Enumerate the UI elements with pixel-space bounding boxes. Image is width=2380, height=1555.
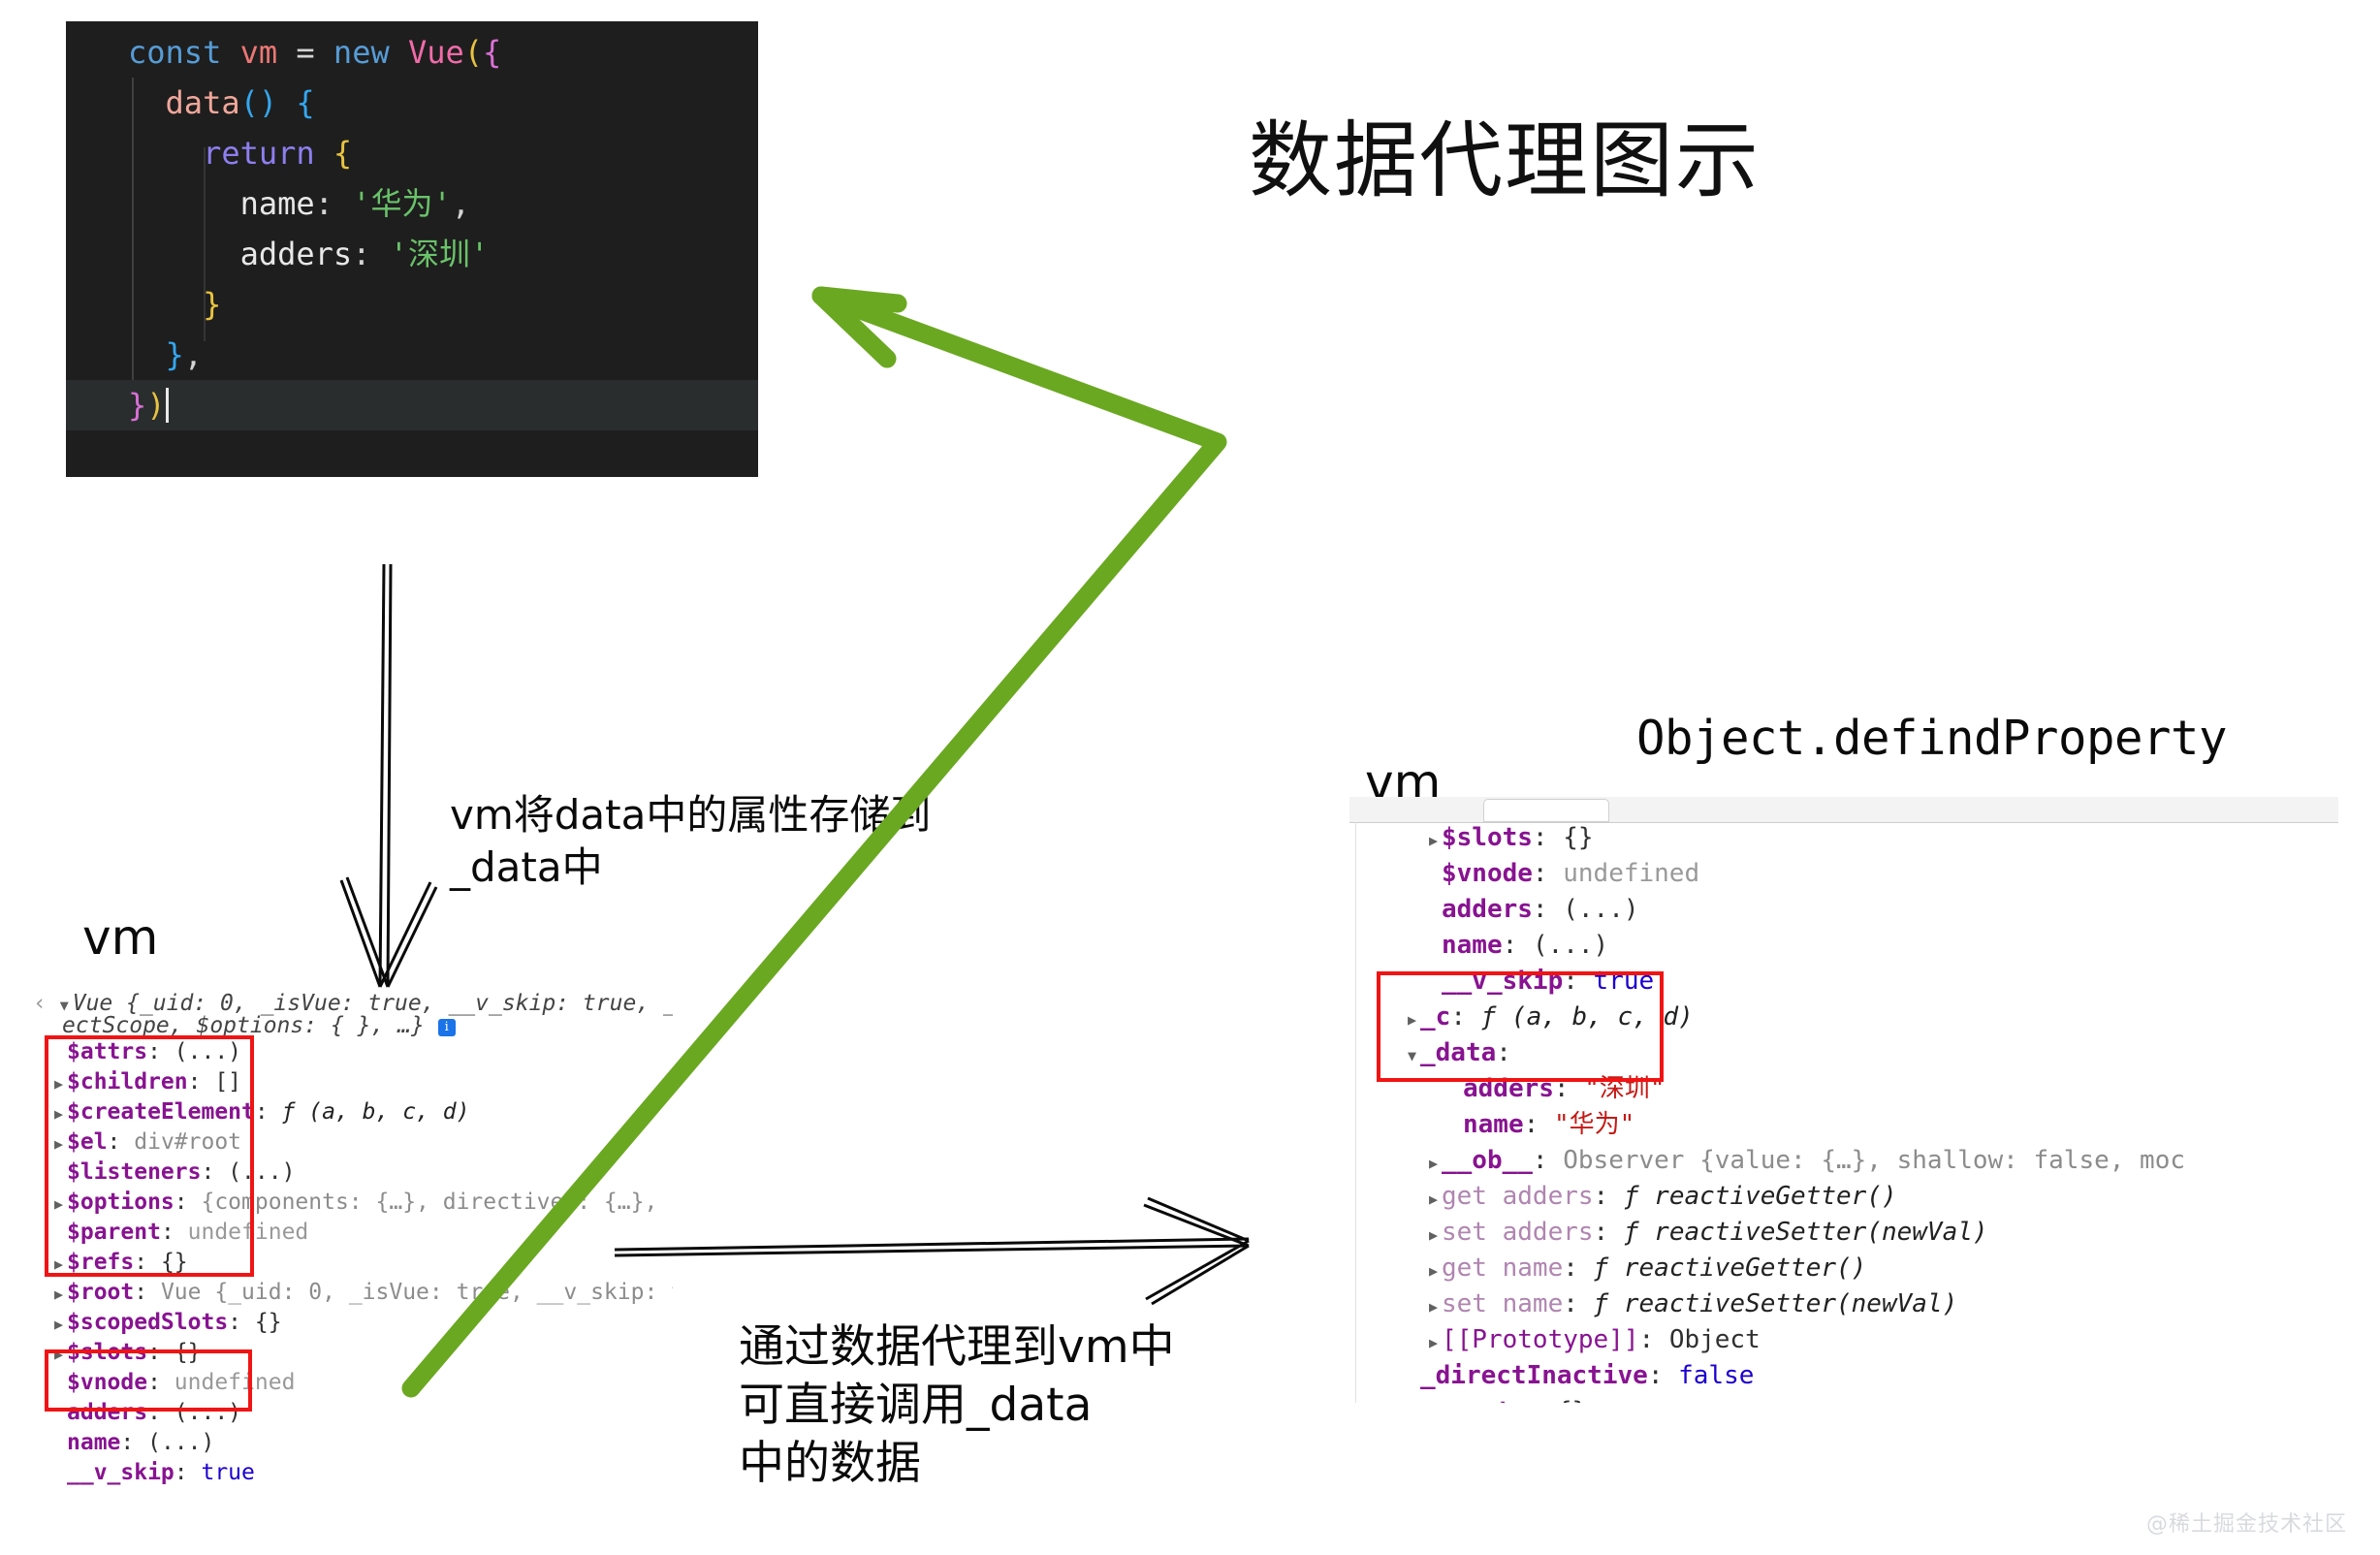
devtools-row-value: false bbox=[1678, 1361, 1754, 1390]
devtools-row-separator: : bbox=[1527, 1397, 1557, 1403]
row-spacer: ▶ bbox=[54, 1430, 67, 1460]
devtools-row-value: Observer {value: {…}, shallow: false, mo… bbox=[1563, 1146, 2185, 1175]
devtools-row[interactable]: ▶$children: [] bbox=[54, 1067, 673, 1097]
down-arrow-icon bbox=[341, 564, 436, 987]
annotation-data-proxy: 通过数据代理到vm中 可直接调用_data 中的数据 bbox=[739, 1318, 1340, 1493]
devtools-row[interactable]: ▶$scopedSlots: {} bbox=[54, 1308, 673, 1338]
devtools-row-key: __v_skip bbox=[67, 1460, 175, 1485]
devtools-row-key: name bbox=[1463, 1110, 1524, 1139]
devtools-row[interactable]: ▶$refs: {} bbox=[54, 1248, 673, 1278]
devtools-row-key: $root bbox=[67, 1280, 134, 1305]
devtools-tab-chip[interactable] bbox=[1483, 799, 1609, 822]
devtools-row-separator: : bbox=[161, 1220, 188, 1245]
devtools-row[interactable]: ▶$vnode: undefined bbox=[54, 1368, 673, 1398]
devtools-row[interactable]: ▶$listeners: (...) bbox=[54, 1158, 673, 1188]
row-spacer: ▶ bbox=[54, 1039, 67, 1069]
devtools-row[interactable]: ▶$options: {components: {…}, directives:… bbox=[54, 1188, 673, 1218]
row-spacer: ▶ bbox=[1450, 1074, 1463, 1110]
devtools-row-value: "深圳" bbox=[1584, 1074, 1665, 1103]
devtools-row[interactable]: ▶name: (...) bbox=[54, 1428, 673, 1458]
devtools-row[interactable]: ▶_c: ƒ (a, b, c, d) bbox=[1408, 1000, 2185, 1035]
collapsed-triangle-icon[interactable]: ▶ bbox=[54, 1250, 67, 1280]
devtools-row[interactable]: ▶$attrs: (...) bbox=[54, 1037, 673, 1067]
collapsed-triangle-icon[interactable]: ▶ bbox=[1429, 1146, 1442, 1182]
devtools-row[interactable]: ▶$slots: {} bbox=[54, 1338, 673, 1368]
devtools-row-value: ƒ (a, b, c, d) bbox=[282, 1099, 470, 1125]
devtools-row-value: {} bbox=[1563, 823, 1593, 852]
devtools-row-separator: : bbox=[1594, 1218, 1624, 1247]
collapsed-triangle-icon[interactable]: ▶ bbox=[1429, 1218, 1442, 1254]
code-line-2: data() { bbox=[66, 78, 758, 128]
devtools-row-separator: : bbox=[147, 1400, 175, 1425]
devtools-row-separator: : bbox=[255, 1099, 282, 1125]
collapsed-triangle-icon[interactable]: ▶ bbox=[54, 1069, 67, 1099]
devtools-row-separator: : bbox=[108, 1129, 135, 1155]
devtools-row-key: $vnode bbox=[1442, 859, 1533, 888]
devtools-row[interactable]: ▶_directInactive: false bbox=[1408, 1358, 2185, 1394]
devtools-row-key: _c bbox=[1420, 1002, 1450, 1031]
devtools-row-separator: : bbox=[1496, 1038, 1511, 1067]
devtools-row-separator: : bbox=[1563, 967, 1593, 996]
devtools-row[interactable]: ▶__ob__: Observer {value: {…}, shallow: … bbox=[1408, 1143, 2185, 1179]
devtools-row-separator: : bbox=[134, 1280, 161, 1305]
row-spacer: ▶ bbox=[1429, 895, 1442, 931]
devtools-row-separator: : bbox=[1563, 1289, 1593, 1318]
expanded-triangle-icon[interactable]: ▼ bbox=[1408, 1038, 1420, 1074]
devtools-row-key: set adders bbox=[1442, 1218, 1594, 1247]
code-line-8: }) bbox=[66, 380, 758, 430]
collapsed-triangle-icon[interactable]: ▶ bbox=[54, 1099, 67, 1129]
devtools-row[interactable]: ▶$createElement: ƒ (a, b, c, d) bbox=[54, 1097, 673, 1127]
annotation-vm-stores-data: vm将data中的属性存储到 _data中 bbox=[450, 789, 1109, 894]
devtools-row[interactable]: ▶$slots: {} bbox=[1408, 820, 2185, 856]
devtools-row-key: $parent bbox=[67, 1220, 161, 1245]
devtools-row[interactable]: ▶set adders: ƒ reactiveSetter(newVal) bbox=[1408, 1215, 2185, 1251]
devtools-row-separator: : bbox=[147, 1039, 175, 1064]
devtools-row-separator: : bbox=[1533, 895, 1563, 924]
devtools-console-right[interactable]: ▶$slots: {}▶$vnode: undefined▶adders: (.… bbox=[1349, 797, 2338, 1403]
devtools-right-rows: ▶$slots: {}▶$vnode: undefined▶adders: (.… bbox=[1408, 820, 2185, 1403]
row-spacer: ▶ bbox=[1450, 1110, 1463, 1146]
devtools-row-key: _events bbox=[1420, 1397, 1527, 1403]
devtools-row-key: [[Prototype]] bbox=[1442, 1325, 1639, 1354]
devtools-row[interactable]: ▶adders: "深圳" bbox=[1408, 1071, 2185, 1107]
collapsed-triangle-icon[interactable]: ▶ bbox=[54, 1310, 67, 1340]
collapsed-triangle-icon[interactable]: ▶ bbox=[54, 1340, 67, 1370]
devtools-row-value: {} bbox=[161, 1250, 188, 1275]
devtools-row-value: true bbox=[201, 1460, 254, 1485]
devtools-row-key: set name bbox=[1442, 1289, 1563, 1318]
row-spacer: ▶ bbox=[54, 1460, 67, 1485]
devtools-row[interactable]: ▶$vnode: undefined bbox=[1408, 856, 2185, 892]
devtools-toolbar[interactable] bbox=[1349, 797, 2338, 823]
devtools-row-value: "华为" bbox=[1554, 1110, 1634, 1139]
devtools-left-rule bbox=[1355, 822, 1356, 1403]
devtools-row[interactable]: ▶adders: (...) bbox=[54, 1398, 673, 1428]
devtools-row-key: name bbox=[67, 1430, 120, 1455]
devtools-left-rows: ▶$attrs: (...)▶$children: []▶$createElem… bbox=[54, 1037, 673, 1485]
devtools-console-left[interactable]: ‹ ▼Vue {_uid: 0, _isVue: true, __v_skip:… bbox=[33, 991, 673, 1485]
devtools-row-value: {components: {…}, directives: {…}, filte… bbox=[201, 1190, 673, 1215]
devtools-row-key: get name bbox=[1442, 1254, 1563, 1283]
collapsed-triangle-icon[interactable]: ▶ bbox=[1408, 1002, 1420, 1038]
console-header-line2: ectScope, $options: { }, …} bbox=[62, 1013, 425, 1038]
devtools-row-key: $el bbox=[67, 1129, 108, 1155]
devtools-row-separator: : bbox=[1450, 1002, 1480, 1031]
devtools-row-value: {} bbox=[255, 1310, 282, 1335]
devtools-row-key: __v_skip bbox=[1442, 967, 1563, 996]
devtools-row[interactable]: ▶set name: ƒ reactiveSetter(newVal) bbox=[1408, 1286, 2185, 1322]
devtools-row-value: ƒ reactiveSetter(newVal) bbox=[1624, 1218, 1988, 1247]
devtools-row-value: (...) bbox=[1563, 895, 1638, 924]
page-title: 数据代理图示 bbox=[1249, 92, 1761, 213]
devtools-row-value: Object bbox=[1669, 1325, 1761, 1354]
devtools-row-key: $refs bbox=[67, 1250, 134, 1275]
row-spacer: ▶ bbox=[1429, 859, 1442, 895]
object-define-property-heading: Object.defindProperty bbox=[1636, 711, 2227, 766]
collapsed-triangle-icon[interactable]: ▶ bbox=[1429, 1182, 1442, 1218]
devtools-row[interactable]: ▼_data: bbox=[1408, 1035, 2185, 1071]
devtools-row-separator: : bbox=[228, 1310, 255, 1335]
devtools-row-separator: : bbox=[1639, 1325, 1669, 1354]
devtools-row-separator: : bbox=[175, 1190, 202, 1215]
row-spacer: ▶ bbox=[54, 1400, 67, 1430]
devtools-row-value: (...) bbox=[228, 1159, 295, 1185]
code-line-6: } bbox=[66, 279, 758, 330]
code-editor-panel: const vm = new Vue({ data() { return { n… bbox=[66, 21, 758, 477]
devtools-row-separator: : bbox=[175, 1460, 202, 1485]
row-spacer: ▶ bbox=[54, 1159, 67, 1190]
devtools-row-key: _data bbox=[1420, 1038, 1496, 1067]
row-spacer: ▶ bbox=[54, 1370, 67, 1400]
devtools-row-value: (...) bbox=[175, 1039, 241, 1064]
devtools-row-key: adders bbox=[67, 1400, 147, 1425]
collapsed-triangle-icon[interactable]: ▶ bbox=[1429, 1325, 1442, 1361]
devtools-row-value: undefined bbox=[188, 1220, 309, 1245]
devtools-row-value: (...) bbox=[1533, 931, 1608, 960]
devtools-row-separator: : bbox=[1533, 859, 1563, 888]
chevron-left-icon: ‹ bbox=[33, 991, 47, 1016]
devtools-row-value: [] bbox=[214, 1069, 241, 1095]
devtools-row[interactable]: ▶__v_skip: true bbox=[54, 1458, 673, 1485]
devtools-row-value: (...) bbox=[147, 1430, 214, 1455]
devtools-row-value: {} bbox=[175, 1340, 202, 1365]
devtools-row-value: {} bbox=[1557, 1397, 1587, 1403]
row-spacer: ▶ bbox=[1408, 1361, 1420, 1397]
code-line-5: adders: '深圳' bbox=[66, 229, 758, 279]
collapsed-triangle-icon[interactable]: ▶ bbox=[1429, 823, 1442, 859]
row-spacer: ▶ bbox=[1429, 967, 1442, 1002]
devtools-row-key: adders bbox=[1442, 895, 1533, 924]
code-line-4: name: '华为', bbox=[66, 178, 758, 229]
devtools-row-key: name bbox=[1442, 931, 1503, 960]
devtools-row-value: ƒ reactiveSetter(newVal) bbox=[1594, 1289, 1958, 1318]
devtools-row[interactable]: ▶_events: {} bbox=[1408, 1394, 2185, 1403]
devtools-row-value: ƒ reactiveGetter() bbox=[1594, 1254, 1867, 1283]
devtools-row-separator: : bbox=[188, 1069, 215, 1095]
collapsed-triangle-icon[interactable]: ▶ bbox=[1429, 1254, 1442, 1289]
row-spacer: ▶ bbox=[1429, 931, 1442, 967]
devtools-row-value: div#root bbox=[134, 1129, 241, 1155]
code-line-7: }, bbox=[66, 330, 758, 380]
devtools-row-value: Vue {_uid: 0, _isVue: true, __v_skip: tr… bbox=[161, 1280, 673, 1305]
row-spacer: ▶ bbox=[54, 1220, 67, 1250]
devtools-row-separator: : bbox=[147, 1370, 175, 1395]
devtools-row-key: $attrs bbox=[67, 1039, 147, 1064]
devtools-row-separator: : bbox=[1594, 1182, 1624, 1211]
devtools-row-separator: : bbox=[1503, 931, 1533, 960]
devtools-row[interactable]: ▶get name: ƒ reactiveGetter() bbox=[1408, 1251, 2185, 1286]
devtools-row[interactable]: ▶name: "华为" bbox=[1408, 1107, 2185, 1143]
collapsed-triangle-icon[interactable]: ▶ bbox=[1429, 1289, 1442, 1325]
devtools-row[interactable]: ▶__v_skip: true bbox=[1408, 964, 2185, 1000]
devtools-row[interactable]: ▶$root: Vue {_uid: 0, _isVue: true, __v_… bbox=[54, 1278, 673, 1308]
right-arrow-icon bbox=[615, 1198, 1249, 1304]
devtools-row-separator: : bbox=[120, 1430, 147, 1455]
devtools-row-key: get adders bbox=[1442, 1182, 1594, 1211]
console-header-line2-wrap: ectScope, $options: { }, …} i bbox=[62, 1013, 456, 1039]
devtools-row-key: adders bbox=[1463, 1074, 1554, 1103]
devtools-row-key: $slots bbox=[67, 1340, 147, 1365]
devtools-row[interactable]: ▶get adders: ƒ reactiveGetter() bbox=[1408, 1179, 2185, 1215]
devtools-row[interactable]: ▶[[Prototype]]: Object bbox=[1408, 1322, 2185, 1358]
devtools-row[interactable]: ▶adders: (...) bbox=[1408, 892, 2185, 928]
devtools-row-key: _directInactive bbox=[1420, 1361, 1648, 1390]
devtools-row-key: $options bbox=[67, 1190, 175, 1215]
devtools-row[interactable]: ▶$parent: undefined bbox=[54, 1218, 673, 1248]
collapsed-triangle-icon[interactable]: ▶ bbox=[1408, 1397, 1420, 1403]
info-badge-icon[interactable]: i bbox=[438, 1019, 456, 1036]
collapsed-triangle-icon[interactable]: ▶ bbox=[54, 1190, 67, 1220]
devtools-row-separator: : bbox=[1533, 1146, 1563, 1175]
devtools-row-key: $children bbox=[67, 1069, 188, 1095]
devtools-row[interactable]: ▶$el: div#root bbox=[54, 1127, 673, 1158]
devtools-row-separator: : bbox=[1533, 823, 1563, 852]
devtools-row-value: undefined bbox=[1563, 859, 1699, 888]
devtools-row-separator: : bbox=[201, 1159, 228, 1185]
devtools-row-separator: : bbox=[147, 1340, 175, 1365]
watermark: @稀土掘金技术社区 bbox=[2146, 1507, 2347, 1538]
devtools-row-separator: : bbox=[1554, 1074, 1584, 1103]
devtools-row-value: ƒ reactiveGetter() bbox=[1624, 1182, 1897, 1211]
devtools-row-key: $slots bbox=[1442, 823, 1533, 852]
devtools-row[interactable]: ▶name: (...) bbox=[1408, 928, 2185, 964]
code-line-3: return { bbox=[66, 128, 758, 178]
vm-label-left: vm bbox=[82, 909, 158, 966]
devtools-row-value: ƒ (a, b, c, d) bbox=[1481, 1002, 1694, 1031]
devtools-row-key: $vnode bbox=[67, 1370, 147, 1395]
devtools-row-key: __ob__ bbox=[1442, 1146, 1533, 1175]
devtools-row-value: true bbox=[1594, 967, 1655, 996]
diagram-canvas: const vm = new Vue({ data() { return { n… bbox=[0, 0, 2380, 1555]
devtools-row-separator: : bbox=[1524, 1110, 1554, 1139]
code-line-1: const vm = new Vue({ bbox=[66, 27, 758, 78]
devtools-row-key: $listeners bbox=[67, 1159, 201, 1185]
devtools-row-separator: : bbox=[1563, 1254, 1593, 1283]
devtools-row-separator: : bbox=[134, 1250, 161, 1275]
devtools-row-value: undefined bbox=[175, 1370, 296, 1395]
collapsed-triangle-icon[interactable]: ▶ bbox=[54, 1129, 67, 1159]
devtools-row-key: $createElement bbox=[67, 1099, 255, 1125]
devtools-row-value: (...) bbox=[175, 1400, 241, 1425]
devtools-row-separator: : bbox=[1648, 1361, 1678, 1390]
collapsed-triangle-icon[interactable]: ▶ bbox=[54, 1280, 67, 1310]
devtools-row-key: $scopedSlots bbox=[67, 1310, 228, 1335]
